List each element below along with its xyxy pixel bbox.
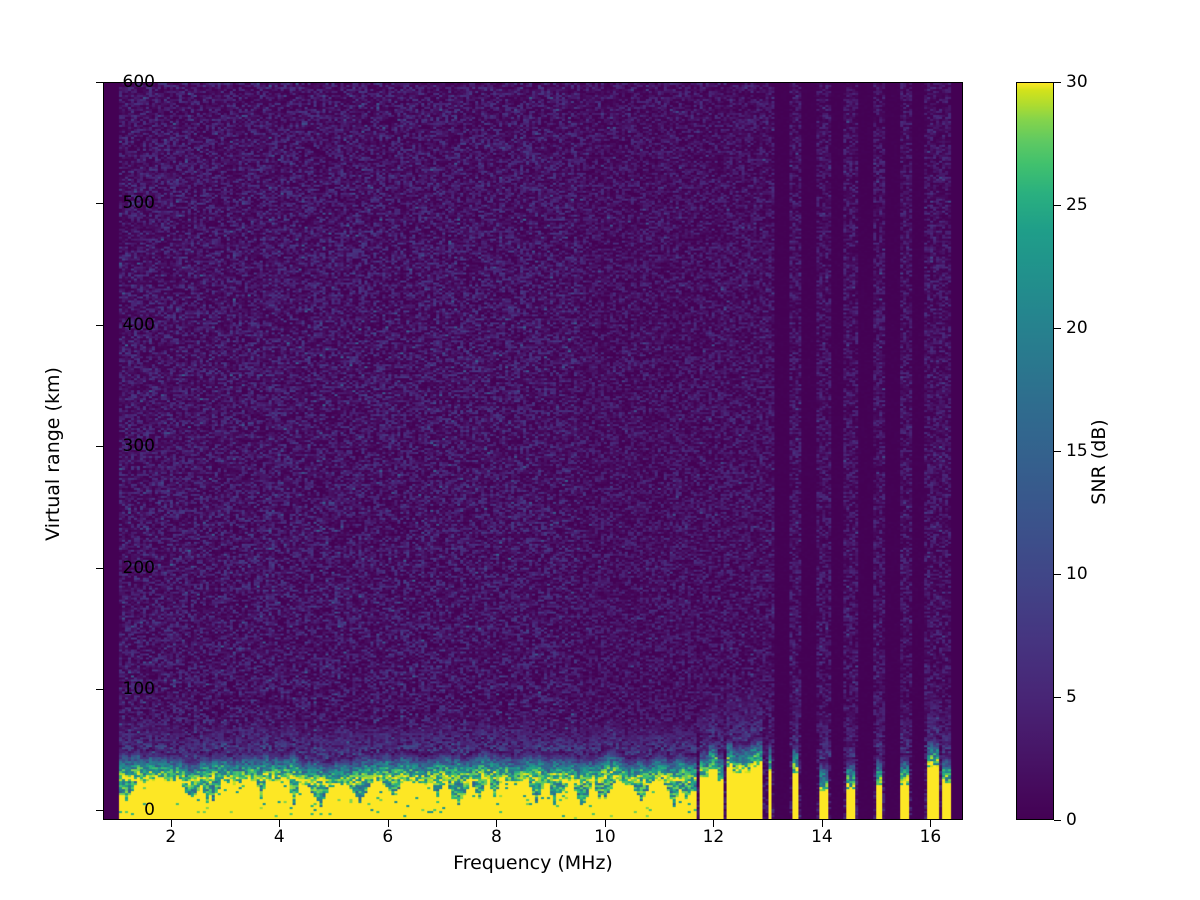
colorbar-tick-label: 5 — [1066, 687, 1077, 707]
colorbar-label: SNR (dB) — [1088, 93, 1110, 831]
x-tick-mark — [279, 820, 280, 827]
y-tick-mark — [96, 689, 103, 690]
y-tick-label: 100 — [35, 679, 155, 699]
colorbar-tick-label: 10 — [1066, 564, 1088, 584]
ionogram-figure: IRF Kiruna Ionosonde KI167 2025-09-27 20… — [0, 0, 1200, 900]
y-tick-mark — [96, 203, 103, 204]
y-tick-mark — [96, 446, 103, 447]
x-tick-label: 12 — [653, 827, 773, 847]
x-tick-mark — [496, 820, 497, 827]
y-tick-mark — [96, 810, 103, 811]
y-tick-label: 600 — [35, 72, 155, 92]
colorbar-tick-mark — [1054, 574, 1061, 575]
x-tick-mark — [822, 820, 823, 827]
y-tick-mark — [96, 568, 103, 569]
colorbar-tick-label: 15 — [1066, 441, 1088, 461]
colorbar-tick-label: 0 — [1066, 810, 1077, 830]
y-tick-mark — [96, 82, 103, 83]
colorbar-tick-mark — [1054, 697, 1061, 698]
ionogram-axes — [103, 82, 963, 820]
colorbar-tick-label: 20 — [1066, 318, 1088, 338]
x-tick-label: 6 — [328, 827, 448, 847]
colorbar-tick-mark — [1054, 820, 1061, 821]
x-tick-mark — [388, 820, 389, 827]
x-tick-label: 2 — [111, 827, 231, 847]
colorbar-tick-label: 25 — [1066, 195, 1088, 215]
colorbar-tick-mark — [1054, 328, 1061, 329]
colorbar-tick-mark — [1054, 82, 1061, 83]
colorbar — [1016, 82, 1054, 820]
x-tick-mark — [713, 820, 714, 827]
x-tick-label: 8 — [436, 827, 556, 847]
colorbar-tick-mark — [1054, 451, 1061, 452]
colorbar-tick-mark — [1054, 205, 1061, 206]
x-tick-label: 16 — [870, 827, 990, 847]
y-tick-label: 400 — [35, 315, 155, 335]
x-tick-mark — [171, 820, 172, 827]
x-axis-label: Frequency (MHz) — [103, 852, 963, 874]
y-tick-mark — [96, 325, 103, 326]
y-tick-label: 300 — [35, 436, 155, 456]
y-tick-label: 500 — [35, 193, 155, 213]
x-tick-label: 14 — [762, 827, 882, 847]
x-tick-mark — [930, 820, 931, 827]
x-tick-mark — [605, 820, 606, 827]
colorbar-tick-label: 30 — [1066, 72, 1088, 92]
y-tick-label: 200 — [35, 558, 155, 578]
y-tick-label: 0 — [35, 800, 155, 820]
ionogram-heatmap — [104, 83, 962, 819]
x-tick-label: 4 — [219, 827, 339, 847]
x-tick-label: 10 — [545, 827, 665, 847]
